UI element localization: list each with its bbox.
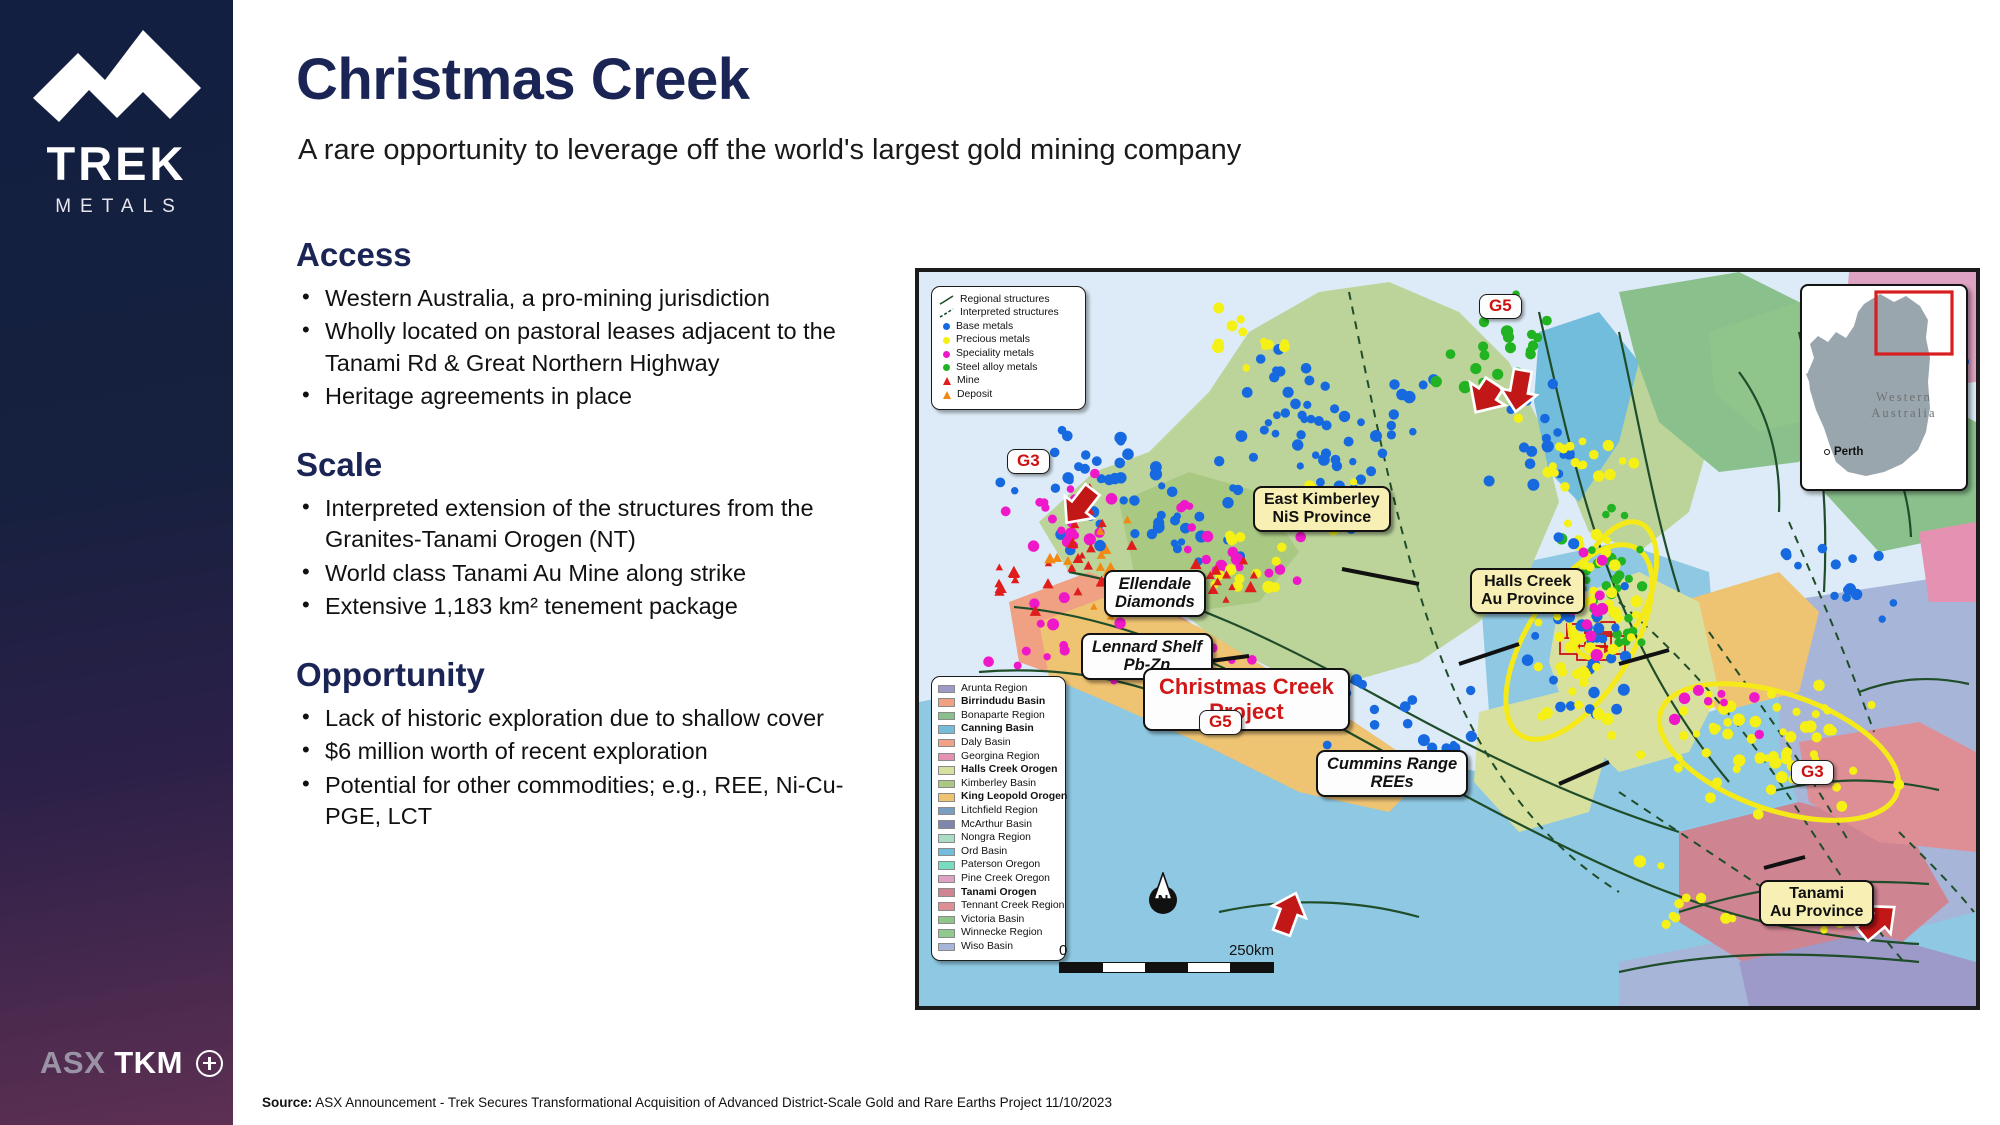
legend-dot-icon bbox=[943, 351, 950, 358]
source-text: ASX Announcement - Trek Secures Transfor… bbox=[315, 1095, 1112, 1110]
unit-legend-row: Victoria Basin bbox=[938, 913, 1060, 927]
unit-legend-label: Wiso Basin bbox=[961, 942, 1013, 952]
inset-region-label: Western Australia bbox=[1854, 390, 1954, 421]
unit-legend-row: Paterson Oregon bbox=[938, 859, 1060, 873]
unit-legend-row: Arunta Region bbox=[938, 682, 1060, 696]
unit-color-swatch bbox=[938, 943, 955, 952]
unit-color-swatch bbox=[938, 861, 955, 870]
bullet-item: Potential for other commodities; e.g., R… bbox=[296, 770, 888, 833]
bullet-item: World class Tanami Au Mine along strike bbox=[296, 558, 888, 589]
unit-color-swatch bbox=[938, 712, 955, 721]
legend-row-regional-structures: Regional structures bbox=[939, 293, 1078, 307]
unit-color-swatch bbox=[938, 766, 955, 775]
unit-color-swatch bbox=[938, 753, 955, 762]
unit-color-swatch bbox=[938, 902, 955, 911]
unit-color-swatch bbox=[938, 834, 955, 843]
unit-legend-label: Tennant Creek Region bbox=[961, 901, 1064, 911]
bullet-item: Extensive 1,183 km² tenement package bbox=[296, 591, 888, 622]
bullet-item: Lack of historic exploration due to shal… bbox=[296, 703, 888, 734]
unit-legend-label: Winnecke Region bbox=[961, 928, 1042, 938]
legend-row-speciality-metals: Speciality metals bbox=[939, 347, 1078, 361]
page-subtitle: A rare opportunity to leverage off the w… bbox=[298, 134, 1241, 167]
unit-color-swatch bbox=[938, 739, 955, 748]
bullet-item: $6 million worth of recent exploration bbox=[296, 736, 888, 767]
unit-legend-row: King Leopold Orogen bbox=[938, 791, 1060, 805]
legend-line-icon bbox=[939, 295, 954, 305]
unit-color-swatch bbox=[938, 807, 955, 816]
unit-legend-row: Halls Creek Orogen bbox=[938, 764, 1060, 778]
unit-color-swatch bbox=[938, 848, 955, 857]
unit-legend-label: Daly Basin bbox=[961, 738, 1011, 748]
unit-legend-row: Ord Basin bbox=[938, 845, 1060, 859]
callout-halls-creek-au-province[interactable]: Halls Creek Au Province bbox=[1470, 568, 1585, 614]
legend-dot-icon bbox=[943, 323, 950, 330]
inset-city-perth: Perth bbox=[1824, 446, 1863, 458]
unit-legend-label: Kimberley Basin bbox=[961, 779, 1036, 789]
unit-legend-row: Tennant Creek Region bbox=[938, 900, 1060, 914]
section-heading: Scale bbox=[296, 446, 888, 484]
legend-row-deposit: Deposit bbox=[939, 388, 1078, 402]
city-marker-icon bbox=[1824, 449, 1830, 455]
legend-row-precious-metals: Precious metals bbox=[939, 334, 1078, 348]
map-symbol-legend: Regional structuresInterpreted structure… bbox=[931, 286, 1086, 410]
unit-legend-row: Tanami Orogen bbox=[938, 886, 1060, 900]
section-access: AccessWestern Australia, a pro-mining ju… bbox=[296, 236, 888, 412]
unit-legend-row: Georgina Region bbox=[938, 750, 1060, 764]
legend-dot-icon bbox=[943, 337, 950, 344]
scalebar-max: 250km bbox=[1229, 942, 1274, 959]
unit-legend-row: Birrindudu Basin bbox=[938, 696, 1060, 710]
callout-east-kimberley-nis-province[interactable]: East Kimberley NiS Province bbox=[1253, 486, 1391, 532]
map-unit-legend: Arunta RegionBirrindudu BasinBonaparte R… bbox=[931, 676, 1066, 961]
bullet-item: Heritage agreements in place bbox=[296, 381, 888, 412]
grid-marker-g3-east[interactable]: G3 bbox=[1791, 760, 1834, 785]
unit-legend-label: Bonaparte Region bbox=[961, 711, 1045, 721]
brand-name-primary: TREK bbox=[47, 140, 187, 187]
section-scale: ScaleInterpreted extension of the struct… bbox=[296, 446, 888, 622]
north-arrow-icon: N bbox=[1145, 872, 1181, 916]
grid-marker-g5-south[interactable]: G5 bbox=[1199, 710, 1242, 735]
unit-color-swatch bbox=[938, 793, 955, 802]
unit-legend-label: Paterson Oregon bbox=[961, 860, 1040, 870]
legend-row-base-metals: Base metals bbox=[939, 320, 1078, 334]
unit-color-swatch bbox=[938, 820, 955, 829]
ticker-code: TKM bbox=[114, 1045, 183, 1081]
inset-city-label: Perth bbox=[1834, 446, 1863, 458]
circle-plus-icon bbox=[196, 1050, 223, 1077]
bullet-item: Interpreted extension of the structures … bbox=[296, 493, 888, 556]
unit-legend-label: Victoria Basin bbox=[961, 915, 1024, 925]
unit-legend-label: Halls Creek Orogen bbox=[961, 765, 1057, 775]
bullet-list: Western Australia, a pro-mining jurisdic… bbox=[296, 283, 888, 412]
unit-color-swatch bbox=[938, 875, 955, 884]
callout-ellendale-diamonds[interactable]: Ellendale Diamonds bbox=[1104, 570, 1206, 617]
legend-row-mine: Mine bbox=[939, 375, 1078, 389]
unit-color-swatch bbox=[938, 916, 955, 925]
source-label: Source: bbox=[262, 1095, 312, 1110]
scalebar-min: 0 bbox=[1059, 942, 1067, 959]
legend-label: Deposit bbox=[957, 390, 992, 400]
unit-legend-label: Georgina Region bbox=[961, 752, 1040, 762]
legend-triangle-icon bbox=[943, 391, 951, 399]
page-title: Christmas Creek bbox=[296, 46, 750, 113]
legend-label: Regional structures bbox=[960, 295, 1050, 305]
unit-color-swatch bbox=[938, 685, 955, 694]
unit-color-swatch bbox=[938, 929, 955, 938]
unit-color-swatch bbox=[938, 698, 955, 707]
source-footnote: Source: ASX Announcement - Trek Secures … bbox=[262, 1095, 1112, 1110]
unit-legend-row: Litchfield Region bbox=[938, 804, 1060, 818]
western-australia-outline bbox=[1802, 286, 1966, 489]
section-heading: Opportunity bbox=[296, 656, 888, 694]
brand-name-secondary: METALS bbox=[55, 196, 184, 218]
svg-text:N: N bbox=[1158, 892, 1169, 909]
legend-label: Interpreted structures bbox=[960, 308, 1059, 318]
unit-legend-row: Pine Creek Oregon bbox=[938, 872, 1060, 886]
unit-legend-label: Tanami Orogen bbox=[961, 888, 1036, 898]
legend-row-steel-alloy-metals: Steel alloy metals bbox=[939, 361, 1078, 375]
grid-marker-g5-north[interactable]: G5 bbox=[1479, 294, 1522, 319]
unit-legend-label: Arunta Region bbox=[961, 684, 1027, 694]
unit-legend-row: Wiso Basin bbox=[938, 940, 1060, 954]
unit-legend-row: Canning Basin bbox=[938, 723, 1060, 737]
unit-color-swatch bbox=[938, 888, 955, 897]
callout-tanami-au-province[interactable]: Tanami Au Province bbox=[1759, 880, 1874, 926]
unit-legend-label: McArthur Basin bbox=[961, 820, 1032, 830]
unit-legend-row: Daly Basin bbox=[938, 736, 1060, 750]
legend-dot-icon bbox=[943, 364, 950, 371]
unit-legend-label: Pine Creek Oregon bbox=[961, 874, 1050, 884]
unit-legend-row: Kimberley Basin bbox=[938, 777, 1060, 791]
callout-christmas-creek-project[interactable]: Christmas Creek Project bbox=[1143, 668, 1350, 731]
regional-geology-map[interactable]: Regional structuresInterpreted structure… bbox=[915, 268, 1980, 1010]
unit-legend-row: Nongra Region bbox=[938, 832, 1060, 846]
legend-label: Mine bbox=[957, 376, 980, 386]
unit-legend-label: Birrindudu Basin bbox=[961, 697, 1045, 707]
legend-label: Steel alloy metals bbox=[956, 363, 1037, 373]
content-sections: AccessWestern Australia, a pro-mining ju… bbox=[296, 236, 888, 866]
locality-inset-map: Western Australia Perth bbox=[1800, 284, 1968, 491]
bullet-item: Wholly located on pastoral leases adjace… bbox=[296, 316, 888, 379]
unit-legend-label: Nongra Region bbox=[961, 833, 1031, 843]
callout-cummins-range-rees[interactable]: Cummins Range REEs bbox=[1316, 750, 1468, 797]
unit-legend-label: King Leopold Orogen bbox=[961, 792, 1067, 802]
brand-sidebar: TREK METALS ASX TKM bbox=[0, 0, 233, 1125]
legend-label: Precious metals bbox=[956, 335, 1030, 345]
legend-triangle-icon bbox=[943, 377, 951, 385]
bullet-item: Western Australia, a pro-mining jurisdic… bbox=[296, 283, 888, 314]
unit-color-swatch bbox=[938, 725, 955, 734]
asx-ticker: ASX TKM bbox=[40, 1045, 223, 1081]
unit-legend-row: McArthur Basin bbox=[938, 818, 1060, 832]
bullet-list: Interpreted extension of the structures … bbox=[296, 493, 888, 622]
bullet-list: Lack of historic exploration due to shal… bbox=[296, 703, 888, 832]
section-heading: Access bbox=[296, 236, 888, 274]
brand-logo: TREK METALS bbox=[0, 26, 233, 218]
legend-label: Speciality metals bbox=[956, 349, 1034, 359]
legend-row-interpreted-structures: Interpreted structures bbox=[939, 307, 1078, 321]
section-opportunity: OpportunityLack of historic exploration … bbox=[296, 656, 888, 832]
map-scalebar: 0 250km bbox=[1059, 942, 1274, 973]
unit-color-swatch bbox=[938, 780, 955, 789]
legend-line-icon bbox=[939, 308, 954, 318]
unit-legend-label: Canning Basin bbox=[961, 724, 1034, 734]
unit-legend-label: Ord Basin bbox=[961, 847, 1007, 857]
grid-marker-g3-west[interactable]: G3 bbox=[1007, 449, 1050, 474]
asx-label: ASX bbox=[40, 1045, 105, 1081]
mountain-logo-icon bbox=[33, 26, 201, 130]
legend-label: Base metals bbox=[956, 322, 1013, 332]
unit-legend-label: Litchfield Region bbox=[961, 806, 1038, 816]
unit-legend-row: Winnecke Region bbox=[938, 927, 1060, 941]
unit-legend-row: Bonaparte Region bbox=[938, 709, 1060, 723]
